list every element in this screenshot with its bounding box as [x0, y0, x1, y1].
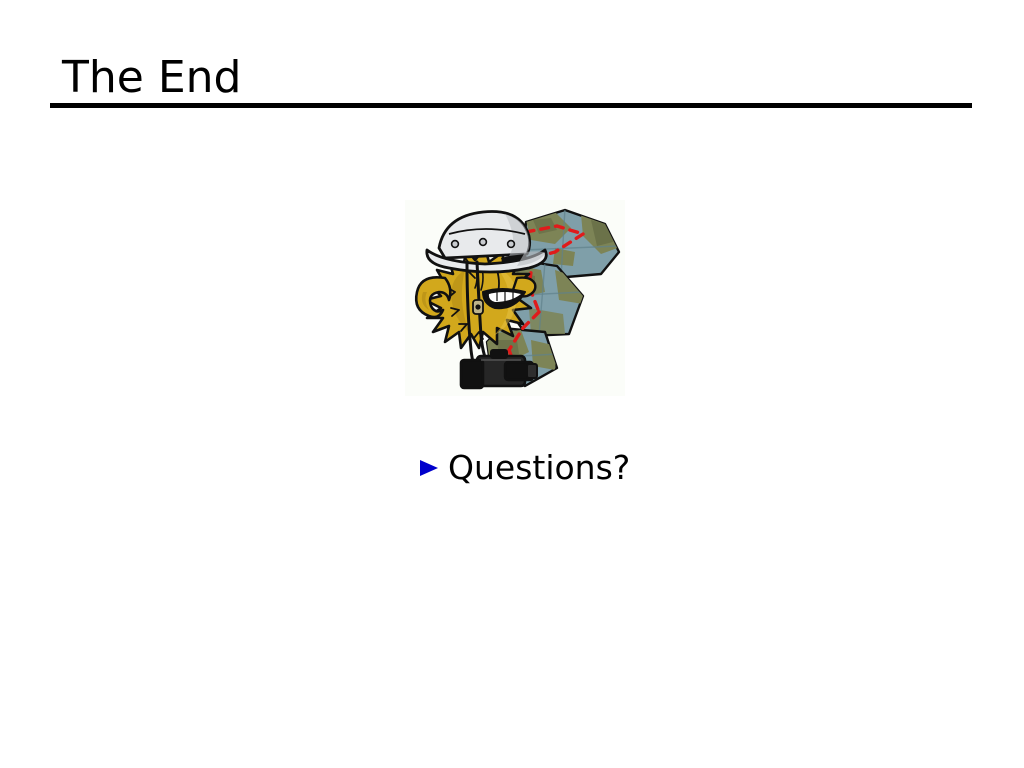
list-item: Questions? — [418, 448, 630, 488]
bullet-label: Questions? — [448, 449, 630, 487]
openbsd-puffy-tourist-illustration — [405, 200, 625, 396]
slide-canvas: The End — [0, 0, 1024, 768]
title-divider — [50, 103, 972, 108]
page-title: The End — [62, 52, 241, 104]
triangle-right-bullet-icon — [418, 458, 440, 478]
